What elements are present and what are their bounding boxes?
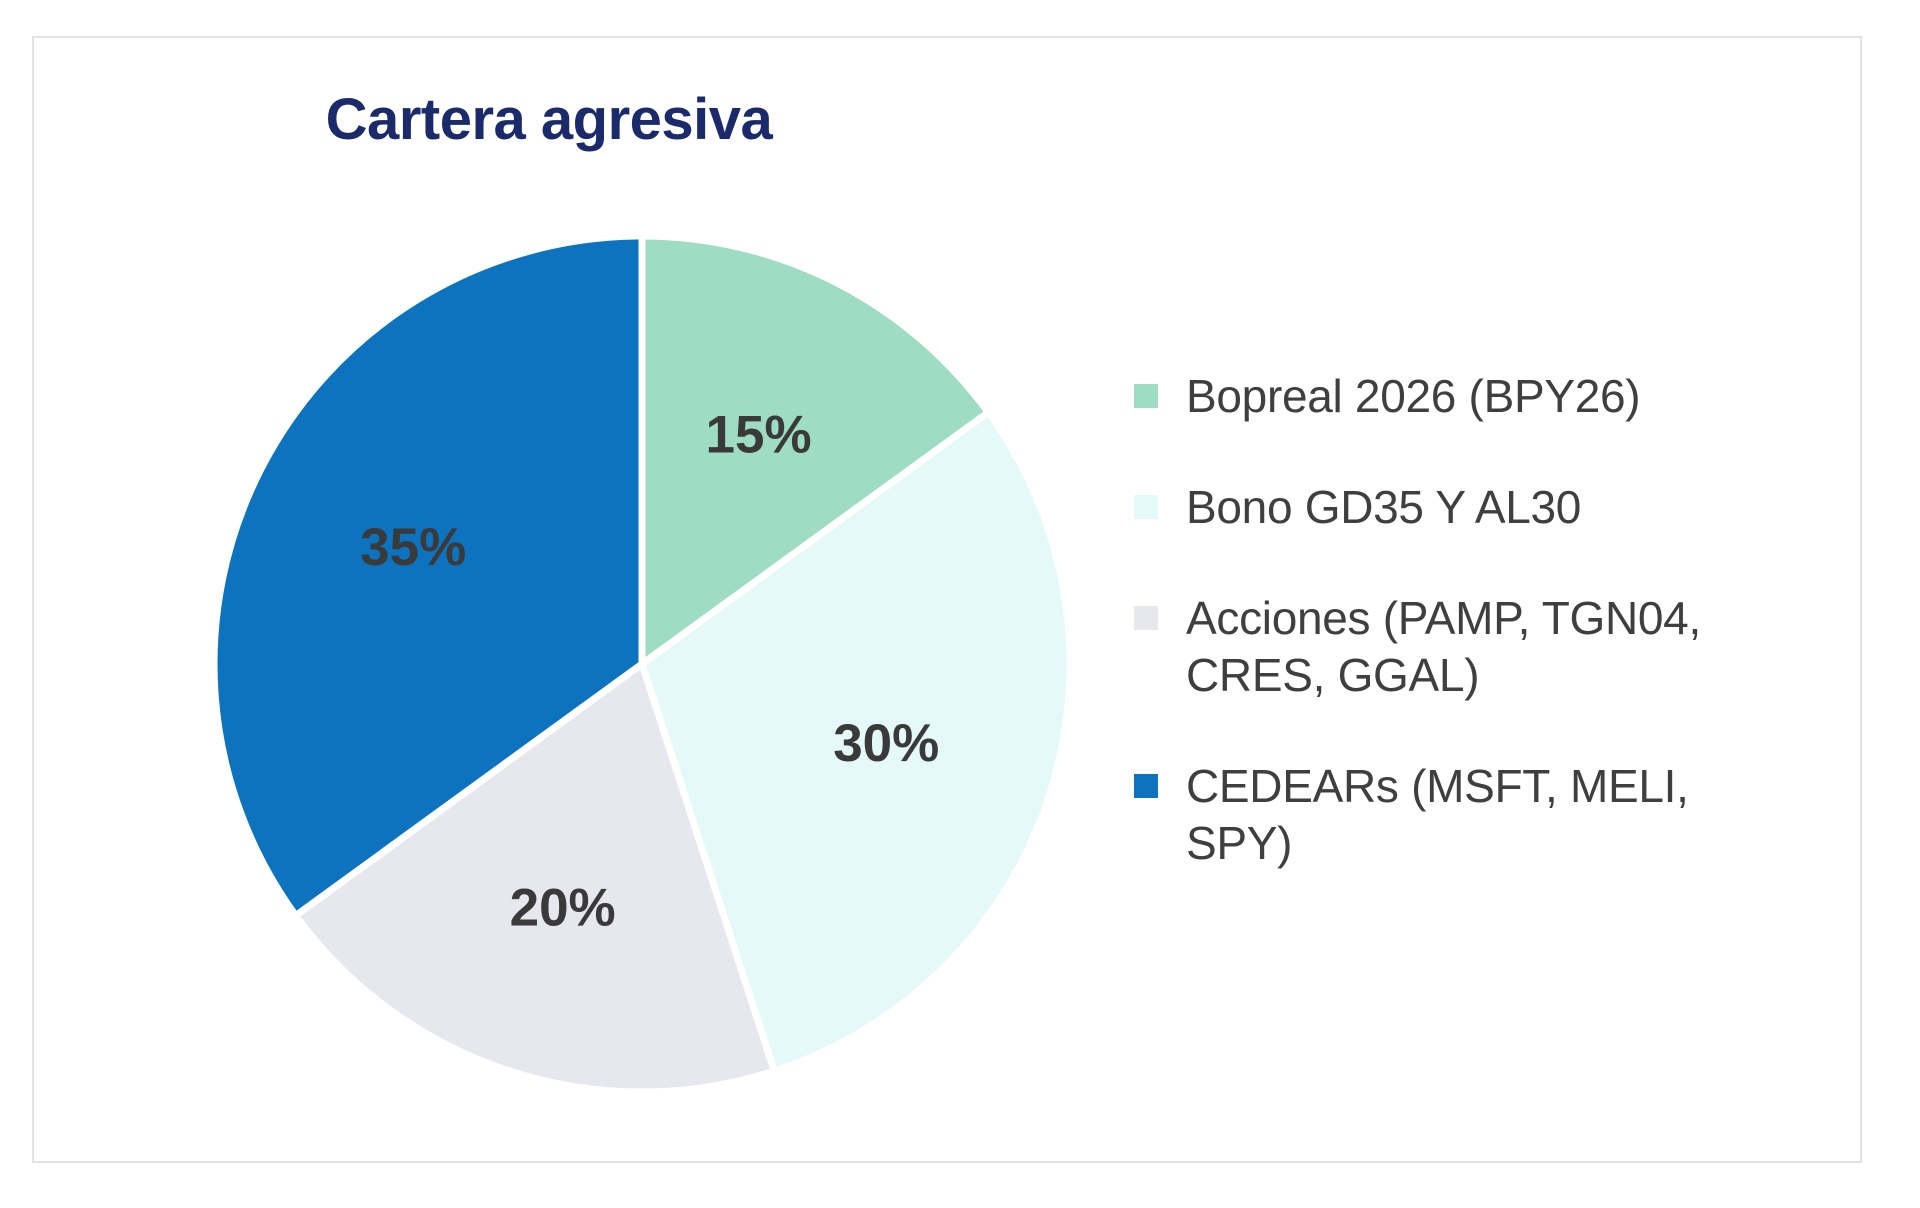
legend-item-label: Bopreal 2026 (BPY26)	[1186, 368, 1640, 425]
pie-svg: 15%30%20%35%	[212, 234, 1072, 1094]
legend-swatch-icon	[1134, 495, 1158, 519]
pie-slice-label-acciones: 20%	[510, 879, 616, 938]
legend-item-label: CEDEARs (MSFT, MELI, SPY)	[1186, 758, 1786, 872]
pie-slice-label-cedears: 35%	[360, 518, 466, 577]
legend-item-3[interactable]: CEDEARs (MSFT, MELI, SPY)	[1134, 758, 1834, 872]
legend-item-1[interactable]: Bono GD35 Y AL30	[1134, 479, 1834, 536]
legend-item-2[interactable]: Acciones (PAMP, TGN04, CRES, GGAL)	[1134, 590, 1834, 704]
chart-card: Cartera agresiva 15%30%20%35% Bopreal 20…	[32, 36, 1862, 1163]
pie-slice-label-bopreal-2026-bpy26: 15%	[706, 406, 812, 465]
legend-item-0[interactable]: Bopreal 2026 (BPY26)	[1134, 368, 1834, 425]
legend-swatch-icon	[1134, 606, 1158, 630]
chart-legend: Bopreal 2026 (BPY26)Bono GD35 Y AL30Acci…	[1134, 368, 1834, 926]
legend-swatch-icon	[1134, 774, 1158, 798]
legend-item-label: Bono GD35 Y AL30	[1186, 479, 1581, 536]
legend-swatch-icon	[1134, 384, 1158, 408]
legend-item-label: Acciones (PAMP, TGN04, CRES, GGAL)	[1186, 590, 1786, 704]
pie-slice-label-bono-gd35-y-al30: 30%	[833, 714, 939, 773]
chart-title: Cartera agresiva	[34, 86, 1064, 153]
pie-chart: 15%30%20%35%	[212, 234, 1072, 1094]
